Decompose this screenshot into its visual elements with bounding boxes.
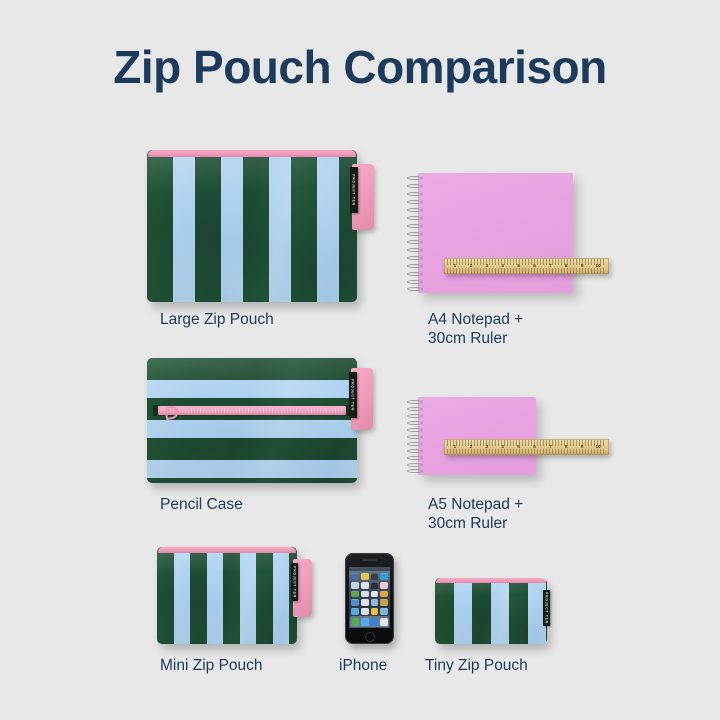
zipper-teeth — [161, 408, 343, 413]
app-icon[interactable] — [361, 591, 369, 598]
app-icon[interactable] — [361, 599, 369, 606]
pouch-body — [157, 547, 297, 644]
iphone[interactable] — [345, 553, 394, 644]
earpiece-speaker-icon — [362, 559, 378, 561]
brand-label-tag: PROJECT TEN — [291, 563, 298, 601]
brand-label-text: PROJECT TEN — [351, 379, 355, 410]
app-icon[interactable] — [380, 573, 388, 580]
a4-notepad[interactable] — [418, 173, 573, 293]
phone-screen[interactable] — [349, 567, 390, 628]
brand-label-text: PROJECT TEN — [545, 592, 549, 623]
status-bar — [349, 567, 390, 571]
app-icon[interactable] — [371, 573, 379, 580]
zip-top-band — [436, 578, 546, 583]
home-button-icon[interactable] — [365, 632, 375, 642]
caption-tiny-zip-pouch: Tiny Zip Pouch — [425, 656, 605, 675]
app-icon[interactable] — [371, 599, 379, 606]
stripes-vertical — [147, 150, 357, 302]
pencil-case[interactable]: PROJECT TEN — [147, 358, 357, 483]
ruler-edge — [444, 258, 609, 274]
app-icon[interactable] — [361, 608, 369, 615]
pouch-body — [147, 150, 357, 302]
brand-label-text: PROJECT TEN — [352, 174, 356, 205]
mini-zip-pouch[interactable]: PROJECT TEN — [157, 547, 297, 644]
app-icon[interactable] — [380, 608, 388, 615]
app-icon[interactable] — [371, 582, 379, 589]
brand-label-tag: PROJECT TEN — [350, 167, 358, 213]
pouch-body — [147, 358, 357, 483]
dock-icon-music[interactable] — [380, 618, 388, 626]
brand-label-text: PROJECT TEN — [293, 566, 297, 597]
notepad-page — [418, 173, 573, 293]
notepad-page — [418, 397, 536, 475]
page-title: Zip Pouch Comparison — [0, 44, 720, 90]
dock-icon-safari[interactable] — [371, 618, 379, 626]
caption-a5-notepad-ruler: A5 Notepad + 30cm Ruler — [428, 495, 628, 534]
app-icon[interactable] — [371, 591, 379, 598]
large-zip-pouch[interactable]: PROJECT TEN — [147, 150, 357, 302]
caption-large-zip-pouch: Large Zip Pouch — [160, 310, 390, 329]
app-icon[interactable] — [351, 591, 359, 598]
zip-top-band — [158, 547, 296, 553]
app-icon[interactable] — [380, 582, 388, 589]
spiral-binding — [407, 397, 423, 475]
stripes-vertical — [157, 547, 297, 644]
dock-icon-mail[interactable] — [361, 618, 369, 626]
stripes-horizontal — [147, 358, 357, 483]
caption-pencil-case: Pencil Case — [160, 495, 390, 514]
pouch-body — [435, 578, 547, 644]
ruler-edge — [444, 439, 609, 455]
home-screen-icon-grid[interactable] — [351, 573, 388, 615]
ruler-30cm-a5[interactable]: 1 2 3 4 5 6 7 8 9 10 — [444, 439, 609, 455]
app-icon[interactable] — [351, 573, 359, 580]
phone-dock[interactable] — [350, 616, 389, 627]
zip-top-band — [148, 150, 356, 157]
app-icon[interactable] — [351, 599, 359, 606]
spiral-binding — [407, 173, 423, 293]
app-icon[interactable] — [351, 582, 359, 589]
pencil-case-zipper[interactable] — [157, 406, 347, 415]
app-icon[interactable] — [371, 608, 379, 615]
app-icon[interactable] — [361, 573, 369, 580]
app-icon[interactable] — [361, 582, 369, 589]
app-icon[interactable] — [351, 608, 359, 615]
dock-icon-phone[interactable] — [352, 618, 360, 626]
a5-notepad[interactable] — [418, 397, 536, 475]
caption-a4-notepad-ruler: A4 Notepad + 30cm Ruler — [428, 310, 628, 349]
app-icon[interactable] — [380, 599, 388, 606]
tiny-zip-pouch[interactable]: PROJECT TEN — [435, 578, 547, 644]
stripes-vertical — [435, 578, 547, 644]
caption-mini-zip-pouch: Mini Zip Pouch — [160, 656, 340, 675]
brand-label-tag: PROJECT TEN — [349, 372, 357, 418]
brand-label-tag: PROJECT TEN — [543, 590, 550, 626]
app-icon[interactable] — [380, 591, 388, 598]
ruler-30cm-a4[interactable]: 1 2 3 4 5 6 7 8 9 10 — [444, 258, 609, 274]
zipper-stop-left — [153, 405, 158, 416]
